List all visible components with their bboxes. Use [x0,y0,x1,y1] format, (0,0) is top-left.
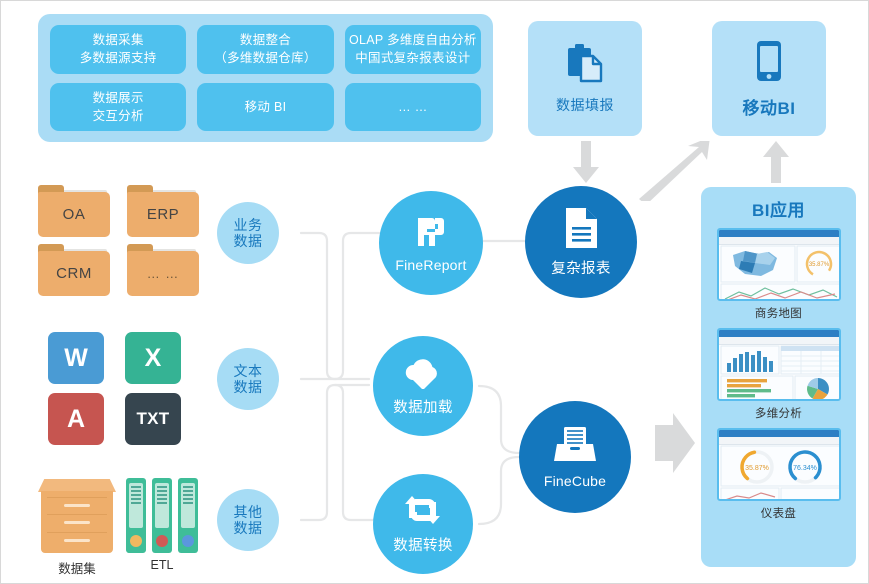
cabinet-drawer [47,497,107,513]
feature-box-2-line1: OLAP 多维度自由分析 [349,31,477,49]
cabinet-drawer [47,532,107,548]
source-folder-oa[interactable]: OA [38,185,110,237]
mobile-phone-icon [754,39,784,88]
feature-box-2[interactable]: OLAP 多维度自由分析 中国式复杂报表设计 [345,25,481,74]
process-data-load-label: 数据加载 [393,396,453,417]
bi-item-dashboard-caption: 仪表盘 [761,505,796,521]
arrow-report-to-mobile [639,141,710,201]
process-data-transform-label: 数据转换 [393,534,453,555]
category-text-data-line1: 文本 [234,363,263,379]
process-data-load[interactable]: 数据加载 [373,336,473,436]
arrow-fillin-to-report [573,141,599,183]
category-other-data-line1: 其他 [234,504,263,520]
feature-panel: 数据采集 多数据源支持 数据整合 （多维数据仓库） OLAP 多维度自由分析 中… [38,14,493,142]
dataset-caption: 数据集 [38,558,116,577]
cube-tray-icon [553,426,597,471]
feature-box-0[interactable]: 数据采集 多数据源支持 [50,25,186,74]
source-folder-oa-label: OA [63,206,86,223]
word-file-label: W [64,344,88,373]
card-data-fillin[interactable]: 数据填报 [528,21,642,136]
feature-box-5-line1: … … [398,98,427,116]
bi-item-multidim-analysis[interactable]: 多维分析 [717,328,841,421]
card-mobile-bi-label: 移动BI [743,94,796,119]
text-file-label: TXT [136,409,169,429]
gauge-dashboard-thumbnail: 35.87% 76.34% [717,428,841,501]
etl-binder [178,478,198,553]
gauge-value-1: 35.87% [745,465,769,472]
source-folder-crm[interactable]: CRM [38,244,110,296]
process-finecube[interactable]: FineCube [519,401,631,513]
source-folder-erp-label: ERP [147,206,179,223]
svg-text:35.87%: 35.87% [808,262,829,268]
feature-box-5[interactable]: … … [345,83,481,132]
diagram-canvas: 数据采集 多数据源支持 数据整合 （多维数据仓库） OLAP 多维度自由分析 中… [0,0,869,584]
category-other-data-line2: 数据 [234,520,263,536]
folder-body: CRM [38,251,110,296]
process-finecube-label: FineCube [544,473,606,489]
category-text-data-line2: 数据 [234,379,263,395]
arrow-finecube-to-bi [653,411,697,475]
feature-box-1[interactable]: 数据整合 （多维数据仓库） [197,25,333,74]
feature-box-3[interactable]: 数据展示 交互分析 [50,83,186,132]
category-text-data[interactable]: 文本 数据 [217,348,279,410]
folder-body: ERP [127,192,199,237]
process-complex-report-label: 复杂报表 [551,257,611,278]
process-finereport-label: FineReport [395,257,466,273]
feature-box-4-line1: 移动 BI [245,98,287,116]
feature-box-3-line1: 数据展示 [93,89,144,107]
bi-item-business-map[interactable]: 35.87% 商务地图 [717,228,841,321]
etl-binder [126,478,146,553]
process-finereport[interactable]: FineReport [379,191,483,295]
source-folder-crm-label: CRM [56,265,92,282]
feature-box-2-line2: 中国式复杂报表设计 [355,49,470,67]
feature-box-1-line2: （多维数据仓库） [214,49,316,67]
etl-caption: ETL [126,558,198,572]
category-business-data-line1: 业务 [234,217,263,233]
card-data-fillin-label: 数据填报 [556,95,614,115]
etl-binder [152,478,172,553]
bi-item-business-map-caption: 商务地图 [755,305,802,321]
source-folder-more-label: … … [147,266,180,281]
feature-box-1-line1: 数据整合 [240,31,291,49]
feature-box-3-line2: 交互分析 [93,107,144,125]
bi-panel-title: BI应用 [752,196,805,221]
category-other-data[interactable]: 其他 数据 [217,489,279,551]
source-folder-erp[interactable]: ERP [127,185,199,237]
clipboard-document-icon [565,42,605,89]
folder-body: OA [38,192,110,237]
category-business-data[interactable]: 业务 数据 [217,202,279,264]
feature-box-4[interactable]: 移动 BI [197,83,333,132]
etl-binders-icon[interactable] [126,478,198,553]
word-file-icon[interactable]: W [48,332,104,384]
category-business-data-line2: 数据 [234,233,263,249]
process-complex-report[interactable]: 复杂报表 [525,186,637,298]
folder-body: … … [127,251,199,296]
excel-file-label: X [145,344,162,373]
transform-arrows-icon [403,493,443,532]
feature-box-0-line2: 多数据源支持 [80,49,157,67]
access-file-label: A [67,405,85,434]
finereport-logo-icon [413,214,449,255]
cabinet-body [41,491,113,553]
bi-application-panel: BI应用 35.87% 商务地图 [701,187,856,567]
cabinet-drawer [47,514,107,530]
document-report-icon [562,206,600,255]
multidimensional-analysis-thumbnail [717,328,841,401]
excel-file-icon[interactable]: X [125,332,181,384]
arrow-bi-to-mobile [763,141,789,183]
map-dashboard-thumbnail: 35.87% [717,228,841,301]
dataset-cabinet-icon[interactable] [38,479,116,553]
gauge-value-2: 76.34% [793,465,817,472]
access-file-icon[interactable]: A [48,393,104,445]
process-data-transform[interactable]: 数据转换 [373,474,473,574]
card-mobile-bi[interactable]: 移动BI [712,21,826,136]
cloud-download-icon [402,355,444,394]
bi-item-dashboard[interactable]: 35.87% 76.34% 仪表盘 [717,428,841,521]
feature-box-0-line1: 数据采集 [93,31,144,49]
source-folder-more[interactable]: … … [127,244,199,296]
bi-item-multidim-analysis-caption: 多维分析 [755,405,802,421]
text-file-icon[interactable]: TXT [125,393,181,445]
